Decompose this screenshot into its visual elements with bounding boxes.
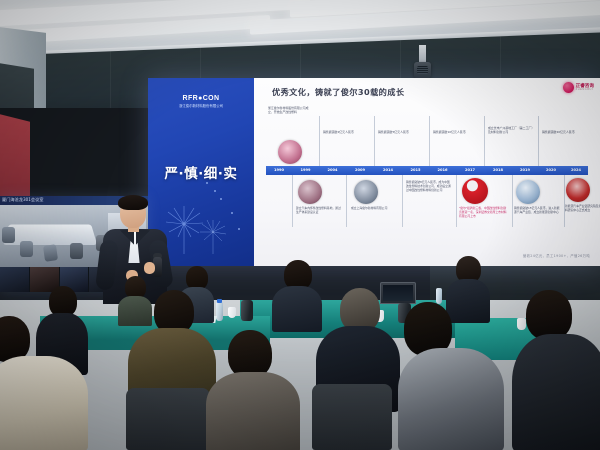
timeline-year[interactable]: 1999 (292, 166, 319, 175)
timeline-year[interactable]: 2019 (512, 166, 538, 175)
timeline-note-below: 成立上海俊尔新材料有限公司 (351, 206, 397, 210)
bottle-cap (217, 299, 222, 303)
timeline-note-below: "俊尔"挂牌新三板，中国改性塑料创新竞赛第一名，深圳证券交易所上市材料有限公司上… (459, 206, 507, 218)
timeline-year[interactable]: 2015 (402, 166, 429, 175)
dandelion-small-icon (198, 220, 228, 254)
timeline-year[interactable]: 2018 (484, 166, 512, 175)
timeline-note-below: 销售额突破15亿元人民币，进入新能源汽车产业链、成立新能源创新中心 (514, 206, 560, 214)
left-wall-panel (0, 114, 30, 203)
audience-person (272, 260, 322, 330)
brand-sub-text: 浙江俊尔新材料股份有限公司 (166, 104, 236, 109)
timeline-photo (354, 180, 378, 204)
timeline-year[interactable]: 1990 (266, 166, 292, 175)
presenter-hand (144, 262, 155, 274)
audience-person (0, 316, 88, 450)
company-timeline: 1990 1999 2004 2009 2014 2015 2016 2017 … (266, 104, 588, 232)
water-bottle (216, 302, 223, 321)
corp-badge-icon (563, 82, 574, 93)
timeline-year[interactable]: 2014 (374, 166, 402, 175)
timeline-note-below: 销售额突破8亿元人民币，成为中国改性塑料技术创新公司，成功设立通过中国改性塑料材… (406, 180, 452, 192)
timeline-note-above: 销售额突破2亿元人民币 (323, 130, 369, 134)
timeline-year[interactable]: 2017 (456, 166, 484, 175)
timeline-photo (462, 178, 488, 204)
paper-cup (228, 307, 236, 318)
chair (126, 388, 210, 450)
meeting-room-label: 厦门海沧龙301会议室 (2, 197, 44, 203)
timeline-note-below: 新能源汽车产业链研究院及新材料研究中心正式成立 (565, 204, 600, 212)
consulting-firm-logo: 正睿咨询 ZHENGRUI (563, 82, 594, 93)
timeline-photo (298, 180, 322, 204)
chair (312, 384, 392, 450)
timeline-year[interactable]: 2024 (564, 166, 588, 175)
video-thumbnail[interactable] (0, 267, 29, 292)
audience-person (398, 302, 504, 450)
main-presentation-screen[interactable]: RFR●CON 浙江俊尔新材料股份有限公司 严·慎·细·实 (148, 78, 600, 266)
timeline-note-below: 建立汽车内饰件改性塑料基地，通过生产体系建设认证 (296, 206, 342, 214)
timeline-photo (516, 180, 540, 204)
brand-logo-text: RFR●CON (166, 95, 236, 102)
timeline-note-above: 销售额突破10亿元人民币 (433, 130, 479, 134)
timeline-year[interactable]: 2020 (538, 166, 564, 175)
timeline-year[interactable]: 2004 (319, 166, 346, 175)
audience-person (206, 330, 300, 450)
speaker-grill-icon (417, 66, 428, 74)
timeline-note-above: 销售额突破20亿元人民币 (542, 130, 587, 134)
slide-content-panel: 优秀文化，铸就了俊尔30载的成长 正睿咨询 ZHENGRUI 1990 1999… (254, 78, 600, 266)
timeline-note-above: 成立长丰广州基地工厂（第二工厂）及材料创新公司 (488, 126, 535, 134)
thermos-bottle (241, 300, 253, 321)
timeline-note-above: 销售额突破5亿元人民币 (378, 130, 424, 134)
presenter-hair (118, 195, 148, 210)
slide-title: 优秀文化，铸就了俊尔30载的成长 (272, 86, 404, 98)
slide-brand-logo: RFR●CON 浙江俊尔新材料股份有限公司 (166, 95, 236, 109)
corp-logo-english: ZHENGRUI (576, 89, 594, 92)
slide-stats-line: 营收24亿元，员工1900+，产值26万吨 (523, 253, 590, 258)
conference-room-scene: RFR●CON 浙江俊尔新材料股份有限公司 严·慎·细·实 (0, 0, 600, 450)
slide-slogan: 严·慎·细·实 (154, 162, 248, 182)
audience-person (512, 290, 600, 450)
video-feed-table (3, 224, 97, 244)
timeline-photo (278, 140, 302, 164)
timeline-year[interactable]: 2009 (346, 166, 374, 175)
timeline-note-above: 浙江俊尔新材料股份有限公司成立，开始生产改性塑料 (268, 106, 314, 114)
timeline-photo (566, 178, 590, 202)
timeline-year[interactable]: 2016 (429, 166, 456, 175)
